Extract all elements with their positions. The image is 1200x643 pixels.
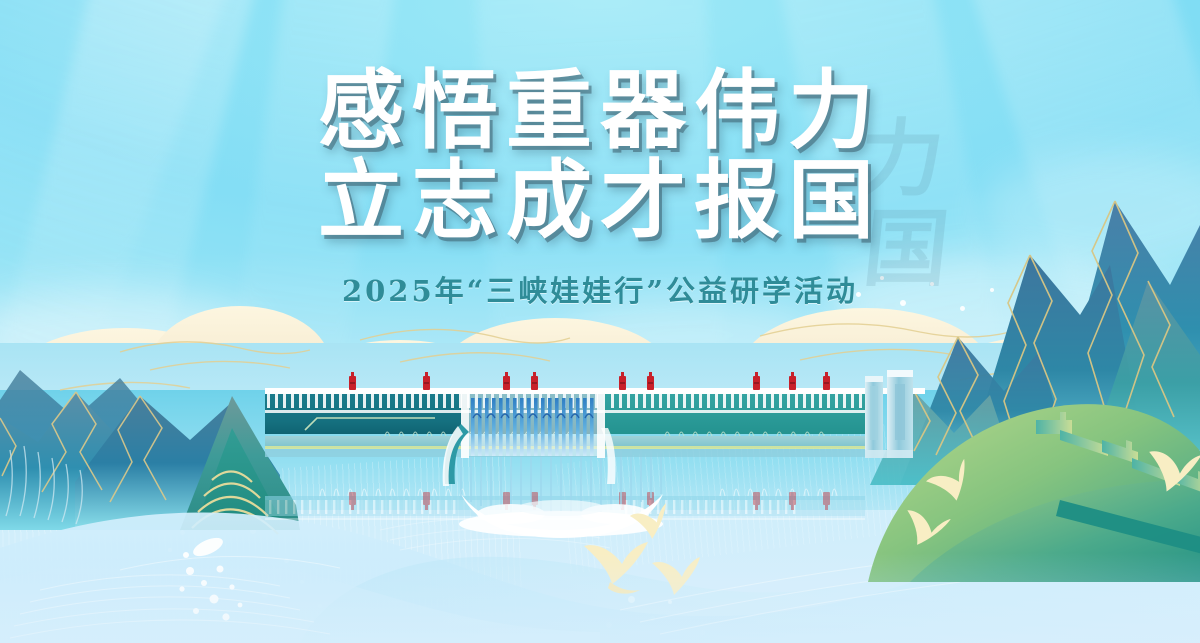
title-block: 感悟重器伟力 立志成才报国 2025年“三峡娃娃行”公益研学活动 — [0, 66, 1200, 310]
ship-lift-tower — [865, 370, 913, 458]
bottom-fade — [0, 553, 1200, 643]
title-line-2: 立志成才报国 — [0, 156, 1200, 246]
swallow-bird — [1140, 444, 1200, 501]
poster-canvas: 力 国 感悟重器伟力 立志成才报国 2025年“三峡娃娃行”公益研学活动 — [0, 0, 1200, 643]
subtitle: 2025年“三峡娃娃行”公益研学活动 — [0, 268, 1200, 310]
title-line-1: 感悟重器伟力 — [0, 66, 1200, 156]
three-gorges-dam — [265, 388, 925, 503]
